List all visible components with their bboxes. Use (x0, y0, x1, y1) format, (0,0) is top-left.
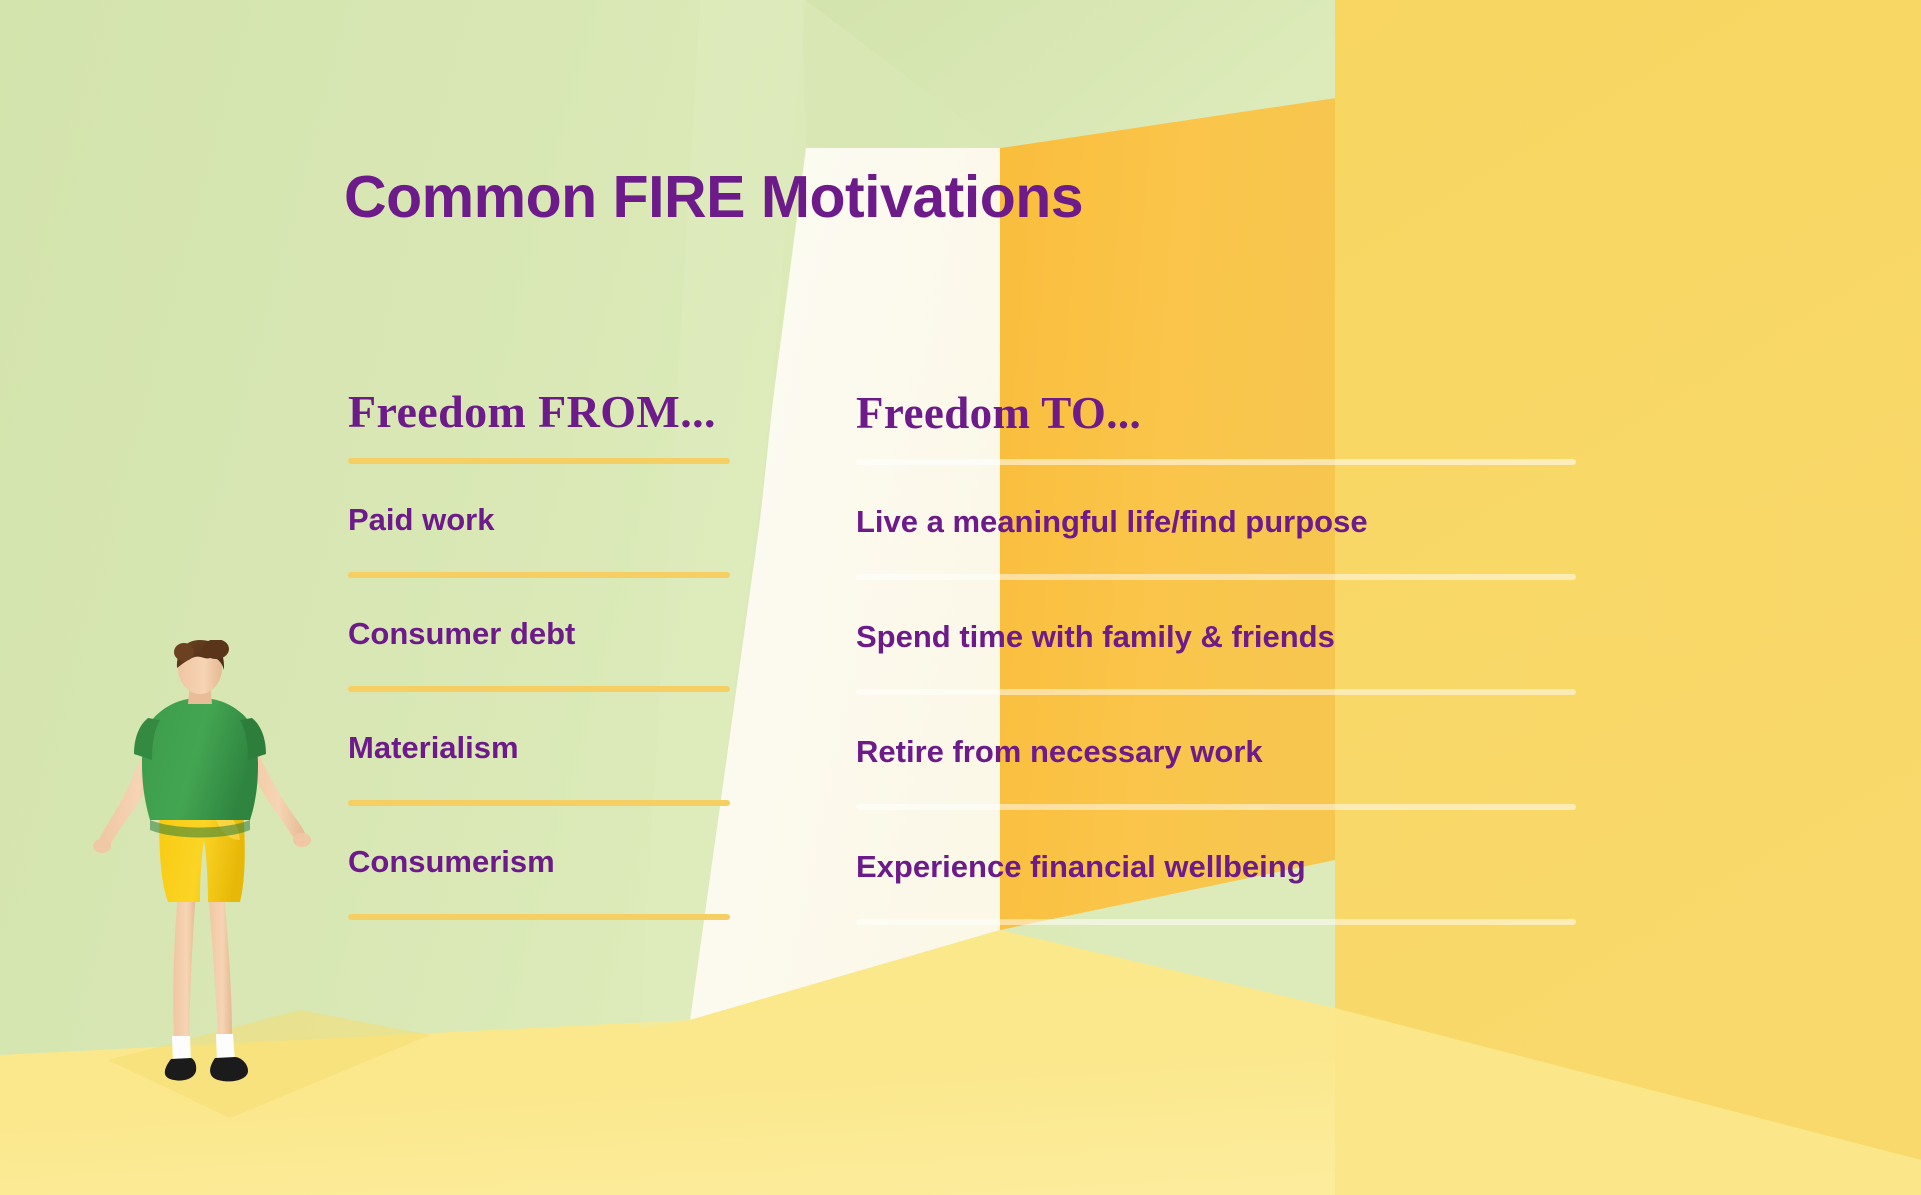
list-item: Consumer debt (348, 578, 730, 649)
list-item: Retire from necessary work (856, 695, 1576, 767)
column-left-heading: Freedom FROM... (348, 388, 730, 436)
hand-right (293, 833, 311, 847)
leg-right (208, 890, 232, 1038)
slide-root: Common FIRE Motivations Freedom FROM... … (0, 0, 1921, 1195)
list-divider (856, 919, 1576, 925)
column-freedom-to: Freedom TO... Live a meaningful life/fin… (856, 390, 1576, 925)
list-item: Live a meaningful life/find purpose (856, 465, 1576, 537)
list-item: Spend time with family & friends (856, 580, 1576, 652)
hand-left (93, 839, 111, 853)
column-right-heading: Freedom TO... (856, 390, 1576, 437)
person-illustration (88, 640, 318, 1100)
shoe-right (210, 1057, 248, 1081)
list-divider (348, 914, 730, 920)
list-item: Consumerism (348, 806, 730, 877)
page-title: Common FIRE Motivations (344, 163, 1083, 231)
shoe-left (165, 1058, 196, 1081)
list-item: Experience financial wellbeing (856, 810, 1576, 882)
column-freedom-from: Freedom FROM... Paid work Consumer debt … (348, 388, 730, 920)
hair-side (174, 643, 194, 661)
leg-left (173, 890, 196, 1040)
list-item: Paid work (348, 464, 730, 535)
list-item: Materialism (348, 692, 730, 763)
t-shirt (142, 698, 258, 820)
